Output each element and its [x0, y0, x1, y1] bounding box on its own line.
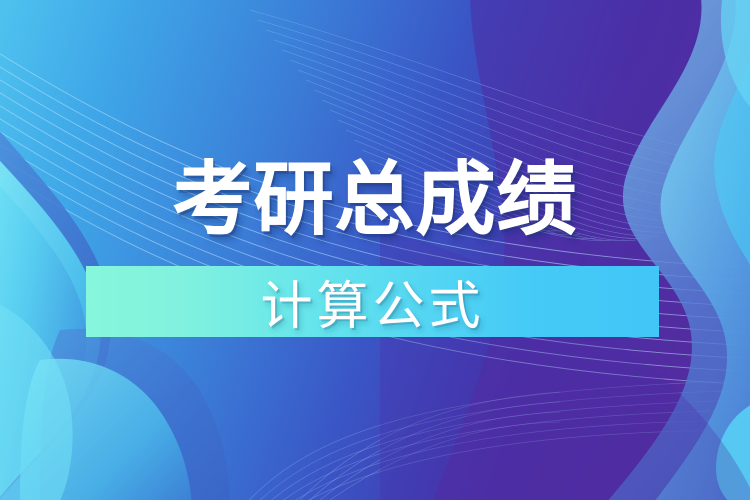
subtitle-text: 计算公式: [86, 266, 659, 337]
promo-banner: 考研总成绩 计算公式: [0, 0, 750, 500]
banner-content: 考研总成绩 计算公式: [0, 0, 750, 500]
page-title: 考研总成绩: [0, 152, 750, 248]
